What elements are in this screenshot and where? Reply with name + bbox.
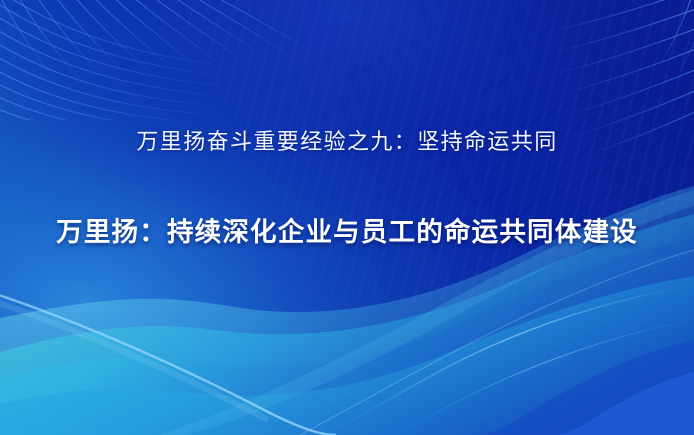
halftone-texture-graphic: [0, 0, 694, 435]
promotional-banner: 万里扬奋斗重要经验之九：坚持命运共同 万里扬：持续深化企业与员工的命运共同体建设: [0, 0, 694, 435]
